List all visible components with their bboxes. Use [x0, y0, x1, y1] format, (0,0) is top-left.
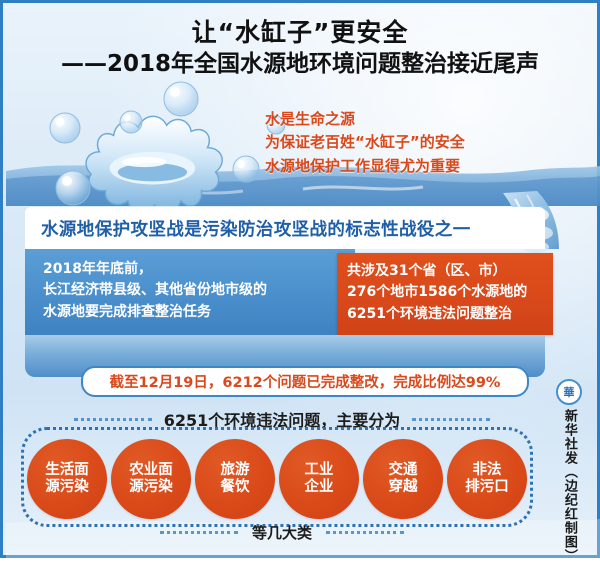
category-label-line1: 生活面: [45, 462, 89, 479]
xinhua-logo-icon: 華: [556, 379, 582, 405]
scope-info-text: 共涉及31个省（区、市） 276个地市1586个水源地的 6251个环境违法问题…: [347, 261, 553, 325]
key-message-text: 水源地保护攻坚战是污染防治攻坚战的标志性战役之一: [25, 216, 471, 241]
key-message-banner: 水源地保护攻坚战是污染防治攻坚战的标志性战役之一: [25, 207, 545, 249]
category-label-line1: 非法: [473, 462, 502, 479]
category-label-line2: 源污染: [45, 479, 89, 496]
dotted-rule-left: [74, 418, 152, 421]
category-label-line1: 交通: [389, 462, 418, 479]
status-badge: 截至12月19日，6212个问题已完成整改，完成比例达99%: [81, 366, 529, 397]
scope-info-box: 共涉及31个省（区、市） 276个地市1586个水源地的 6251个环境违法问题…: [337, 253, 553, 335]
poster-header: 让“水缸子”更安全 ——2018年全国水源地环境问题整治接近尾声: [3, 17, 597, 80]
category-circle-list: 生活面 源污染 农业面 源污染 旅游 餐饮 工业 企业 交通 穿越 非法 排污口: [21, 437, 533, 521]
credit-text: 新华社发（边纪红制图）: [562, 409, 576, 563]
category-circle: 交通 穿越: [363, 439, 443, 519]
page-title: 让“水缸子”更安全: [3, 17, 597, 48]
credit-block: 華 新华社发（边纪红制图）: [547, 379, 591, 563]
category-label-line2: 穿越: [389, 479, 418, 496]
category-label-line2: 源污染: [129, 479, 173, 496]
status-badge-text: 截至12月19日，6212个问题已完成整改，完成比例达99%: [110, 371, 501, 392]
deadline-info-text: 2018年年底前， 长江经济带县级、其他省份地市级的 水源地要完成排查整治任务: [43, 259, 355, 323]
dotted-rule-footer-left: [160, 531, 238, 534]
dotted-rule-footer-right: [326, 531, 404, 534]
category-label-line2: 餐饮: [221, 479, 250, 496]
deadline-info-box: 2018年年底前， 长江经济带县级、其他省份地市级的 水源地要完成排查整治任务: [25, 249, 355, 335]
page-subtitle: ——2018年全国水源地环境问题整治接近尾声: [3, 50, 597, 80]
dotted-rule-right: [412, 418, 490, 421]
infographic-poster: 让“水缸子”更安全 ——2018年全国水源地环境问题整治接近尾声 水是生命之源 …: [0, 0, 600, 558]
category-label-line2: 企业: [305, 479, 334, 496]
category-circle: 旅游 餐饮: [195, 439, 275, 519]
category-circle: 生活面 源污染: [27, 439, 107, 519]
footer-note-text: 等几大类: [252, 522, 312, 543]
category-circle: 非法 排污口: [447, 439, 527, 519]
category-label-line1: 旅游: [221, 462, 250, 479]
category-circle: 工业 企业: [279, 439, 359, 519]
category-circle: 农业面 源污染: [111, 439, 191, 519]
category-label-line2: 排污口: [465, 479, 509, 496]
lead-paragraph: 水是生命之源 为保证老百姓“水缸子”的安全 水源地保护工作显得尤为重要: [265, 108, 595, 178]
category-label-line1: 工业: [305, 462, 334, 479]
footer-note-row: 等几大类: [3, 522, 561, 543]
category-label-line1: 农业面: [129, 462, 173, 479]
